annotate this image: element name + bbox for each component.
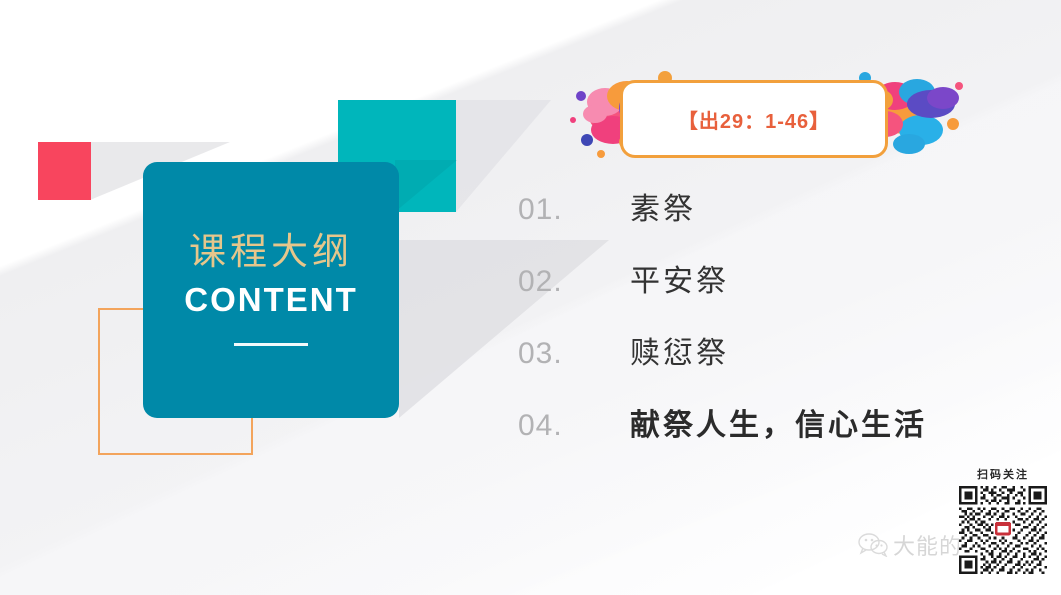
list-item: 01. 素祭 — [518, 184, 988, 256]
red-square-decoration — [38, 142, 91, 200]
qr-code-image[interactable] — [959, 486, 1047, 574]
list-item-label: 平安祭 — [630, 256, 729, 300]
slide-canvas: 课程大纲 CONTENT — [0, 0, 1061, 595]
list-item-label: 赎愆祭 — [630, 328, 729, 372]
qr-code-caption: 扫码关注 — [977, 466, 1029, 482]
content-card-divider — [234, 343, 308, 346]
scripture-banner-box: 【出29：1-46】 — [620, 80, 888, 158]
content-card-title-cn: 课程大纲 — [189, 234, 353, 271]
cyan-square-inner-shadow — [395, 160, 457, 212]
list-item-number: 01. — [518, 193, 630, 227]
qr-code-block: 扫码关注 — [957, 466, 1049, 581]
list-item-label: 献祭人生，信心生活 — [630, 400, 927, 444]
list-item-number: 03. — [518, 337, 630, 371]
list-item-number: 02. — [518, 265, 630, 299]
wechat-icon — [858, 533, 888, 557]
list-item-label: 素祭 — [630, 184, 696, 228]
list-item: 04. 献祭人生，信心生活 — [518, 400, 988, 472]
content-card: 课程大纲 CONTENT — [143, 162, 399, 418]
scripture-banner: 【出29：1-46】 — [565, 58, 965, 168]
list-item-number: 04. — [518, 409, 630, 443]
list-item: 03. 赎愆祭 — [518, 328, 988, 400]
outline-list: 01. 素祭 02. 平安祭 03. 赎愆祭 04. 献祭人生，信心生活 — [518, 184, 988, 472]
scripture-reference-text: 【出29：1-46】 — [678, 105, 830, 134]
content-card-title-en: CONTENT — [184, 281, 358, 319]
list-item: 02. 平安祭 — [518, 256, 988, 328]
